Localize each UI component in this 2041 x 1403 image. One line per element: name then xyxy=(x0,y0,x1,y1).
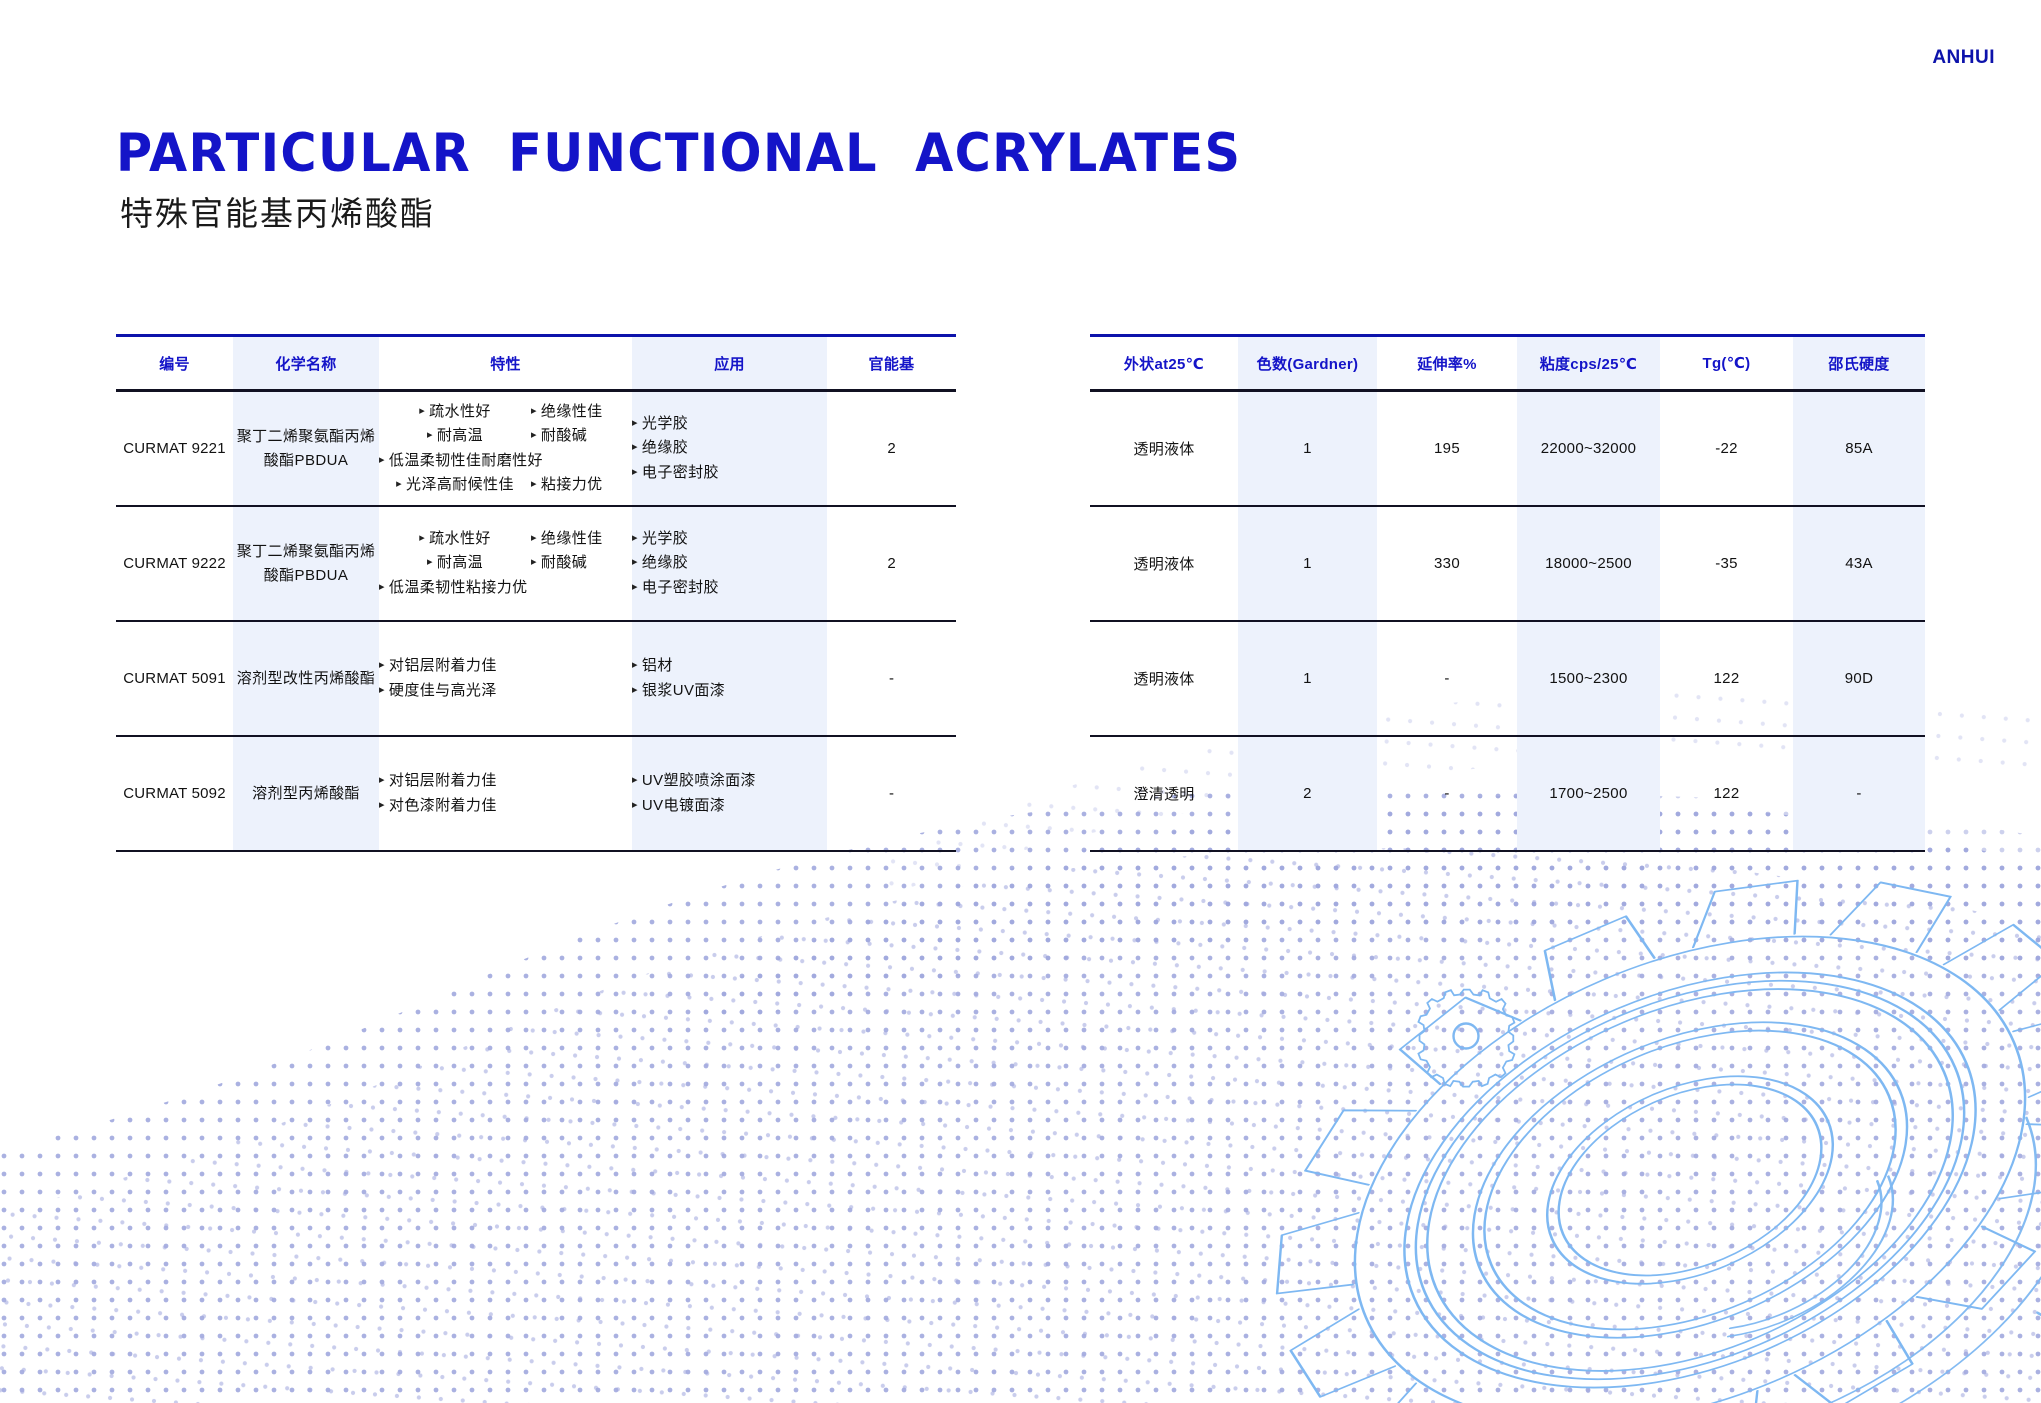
page-subtitle: 特殊官能基丙烯酸酯 xyxy=(120,196,1326,232)
col-header-gardner: 色数(Gardner) xyxy=(1238,336,1377,391)
feature-item: 对铝层附着力佳 xyxy=(379,769,497,793)
cell-elongation: 330 xyxy=(1377,506,1517,621)
cell-code: CURMAT 5091 xyxy=(116,621,233,736)
left-spec-table: 编号 化学名称 特性 应用 官能基 CURMAT 9221 聚丁二烯聚氨酯丙烯酸… xyxy=(116,334,956,852)
cell-tg: -35 xyxy=(1660,506,1793,621)
cell-tg: -22 xyxy=(1660,391,1793,507)
cell-appearance: 透明液体 xyxy=(1090,391,1238,507)
feature-item: 粘接力优 xyxy=(531,473,603,497)
feature-item: 耐高温 xyxy=(379,551,531,575)
left-header-row: 编号 化学名称 特性 应用 官能基 xyxy=(116,336,956,391)
cell-features: 疏水性好绝缘性佳 耐高温耐酸碱 低温柔韧性粘接力优 xyxy=(379,506,632,621)
application-item: 电子密封胶 xyxy=(632,461,719,485)
cell-gardner: 1 xyxy=(1238,391,1377,507)
feature-item: 绝缘性佳 xyxy=(531,527,603,551)
page-canvas: ANHUI PARTICULAR FUNCTIONAL ACRYLATES 特殊… xyxy=(0,0,2041,1403)
cell-code: CURMAT 9222 xyxy=(116,506,233,621)
col-header-chemical-name: 化学名称 xyxy=(233,336,379,391)
table-row: CURMAT 9221 聚丁二烯聚氨酯丙烯酸酯PBDUA 疏水性好绝缘性佳 耐高… xyxy=(116,391,956,507)
cell-applications: 铝材 银浆UV面漆 xyxy=(632,621,827,736)
cell-elongation: - xyxy=(1377,736,1517,851)
large-gear-outline xyxy=(1185,763,2041,1403)
right-spec-table: 外状at25℃ 色数(Gardner) 延伸率% 粘度cps/25℃ Tg(℃)… xyxy=(1090,334,1925,852)
table-row: 澄清透明 2 - 1700~2500 122 - xyxy=(1090,736,1925,851)
right-header-row: 外状at25℃ 色数(Gardner) 延伸率% 粘度cps/25℃ Tg(℃)… xyxy=(1090,336,1925,391)
col-header-features: 特性 xyxy=(379,336,632,391)
cell-appearance: 透明液体 xyxy=(1090,621,1238,736)
cell-viscosity: 1700~2500 xyxy=(1517,736,1660,851)
application-item: 铝材 xyxy=(632,654,673,678)
table-row: CURMAT 5092 溶剂型丙烯酸酯 对铝层附着力佳 对色漆附着力佳 UV塑胶… xyxy=(116,736,956,851)
cell-viscosity: 18000~2500 xyxy=(1517,506,1660,621)
cell-viscosity: 22000~32000 xyxy=(1517,391,1660,507)
cell-chemical-name: 聚丁二烯聚氨酯丙烯酸酯PBDUA xyxy=(233,506,379,621)
cell-functionality: 2 xyxy=(827,506,956,621)
feature-item: 疏水性好 xyxy=(379,400,531,424)
feature-item: 耐酸碱 xyxy=(531,424,587,448)
col-header-tg: Tg(℃) xyxy=(1660,336,1793,391)
application-item: 银浆UV面漆 xyxy=(632,679,725,703)
physical-properties-table: 外状at25℃ 色数(Gardner) 延伸率% 粘度cps/25℃ Tg(℃)… xyxy=(1090,334,1925,852)
cell-shore-hardness: - xyxy=(1793,736,1925,851)
left-table-head: 编号 化学名称 特性 应用 官能基 xyxy=(116,336,956,391)
application-item: 光学胶 xyxy=(632,527,688,551)
small-gear-outline xyxy=(1418,990,1514,1087)
application-item: UV电镀面漆 xyxy=(632,794,725,818)
cell-elongation: - xyxy=(1377,621,1517,736)
feature-item: 耐高温 xyxy=(379,424,531,448)
title-block: PARTICULAR FUNCTIONAL ACRYLATES 特殊官能基丙烯酸… xyxy=(116,126,1326,232)
feature-item: 对铝层附着力佳 xyxy=(379,654,497,678)
cell-elongation: 195 xyxy=(1377,391,1517,507)
feature-item: 光泽高耐候性佳 xyxy=(379,473,531,497)
cell-functionality: - xyxy=(827,736,956,851)
feature-item: 对色漆附着力佳 xyxy=(379,794,497,818)
cell-functionality: - xyxy=(827,621,956,736)
application-item: 光学胶 xyxy=(632,412,688,436)
table-row: 透明液体 1 330 18000~2500 -35 43A xyxy=(1090,506,1925,621)
application-item: 绝缘胶 xyxy=(632,551,688,575)
cell-shore-hardness: 90D xyxy=(1793,621,1925,736)
cell-features: 对铝层附着力佳 对色漆附着力佳 xyxy=(379,736,632,851)
application-item: UV塑胶喷涂面漆 xyxy=(632,769,756,793)
cell-code: CURMAT 5092 xyxy=(116,736,233,851)
cell-shore-hardness: 43A xyxy=(1793,506,1925,621)
cell-viscosity: 1500~2300 xyxy=(1517,621,1660,736)
cell-tg: 122 xyxy=(1660,736,1793,851)
cell-appearance: 透明液体 xyxy=(1090,506,1238,621)
product-properties-table: 编号 化学名称 特性 应用 官能基 CURMAT 9221 聚丁二烯聚氨酯丙烯酸… xyxy=(116,334,956,852)
cell-features: 对铝层附着力佳 硬度佳与高光泽 xyxy=(379,621,632,736)
feature-item: 耐酸碱 xyxy=(531,551,587,575)
cell-functionality: 2 xyxy=(827,391,956,507)
cell-chemical-name: 聚丁二烯聚氨酯丙烯酸酯PBDUA xyxy=(233,391,379,507)
cell-applications: UV塑胶喷涂面漆 UV电镀面漆 xyxy=(632,736,827,851)
feature-item: 低温柔韧性粘接力优 xyxy=(379,576,528,600)
col-header-functionality: 官能基 xyxy=(827,336,956,391)
table-row: 透明液体 1 195 22000~32000 -22 85A xyxy=(1090,391,1925,507)
cell-applications: 光学胶 绝缘胶 电子密封胶 xyxy=(632,391,827,507)
page-title: PARTICULAR FUNCTIONAL ACRYLATES xyxy=(116,126,1241,182)
cell-chemical-name: 溶剂型改性丙烯酸酯 xyxy=(233,621,379,736)
application-item: 绝缘胶 xyxy=(632,436,688,460)
cell-code: CURMAT 9221 xyxy=(116,391,233,507)
application-item: 电子密封胶 xyxy=(632,576,719,600)
table-row: CURMAT 5091 溶剂型改性丙烯酸酯 对铝层附着力佳 硬度佳与高光泽 铝材… xyxy=(116,621,956,736)
right-table-body: 透明液体 1 195 22000~32000 -22 85A 透明液体 1 33… xyxy=(1090,391,1925,852)
left-table-body: CURMAT 9221 聚丁二烯聚氨酯丙烯酸酯PBDUA 疏水性好绝缘性佳 耐高… xyxy=(116,391,956,852)
cell-applications: 光学胶 绝缘胶 电子密封胶 xyxy=(632,506,827,621)
table-row: 透明液体 1 - 1500~2300 122 90D xyxy=(1090,621,1925,736)
cell-gardner: 1 xyxy=(1238,506,1377,621)
cell-chemical-name: 溶剂型丙烯酸酯 xyxy=(233,736,379,851)
cell-shore-hardness: 85A xyxy=(1793,391,1925,507)
cell-gardner: 2 xyxy=(1238,736,1377,851)
col-header-shore-hardness: 邵氏硬度 xyxy=(1793,336,1925,391)
right-table-head: 外状at25℃ 色数(Gardner) 延伸率% 粘度cps/25℃ Tg(℃)… xyxy=(1090,336,1925,391)
cell-gardner: 1 xyxy=(1238,621,1377,736)
brand-logo: ANHUI xyxy=(1932,48,1995,67)
cell-features: 疏水性好绝缘性佳 耐高温耐酸碱 低温柔韧性佳耐磨性好 光泽高耐候性佳粘接力优 xyxy=(379,391,632,507)
col-header-applications: 应用 xyxy=(632,336,827,391)
cell-appearance: 澄清透明 xyxy=(1090,736,1238,851)
feature-item: 疏水性好 xyxy=(379,527,531,551)
col-header-code: 编号 xyxy=(116,336,233,391)
feature-item: 绝缘性佳 xyxy=(531,400,603,424)
feature-item: 低温柔韧性佳耐磨性好 xyxy=(379,449,543,473)
col-header-viscosity: 粘度cps/25℃ xyxy=(1517,336,1660,391)
col-header-appearance: 外状at25℃ xyxy=(1090,336,1238,391)
feature-item: 硬度佳与高光泽 xyxy=(379,679,497,703)
table-row: CURMAT 9222 聚丁二烯聚氨酯丙烯酸酯PBDUA 疏水性好绝缘性佳 耐高… xyxy=(116,506,956,621)
cell-tg: 122 xyxy=(1660,621,1793,736)
col-header-elongation: 延伸率% xyxy=(1377,336,1517,391)
